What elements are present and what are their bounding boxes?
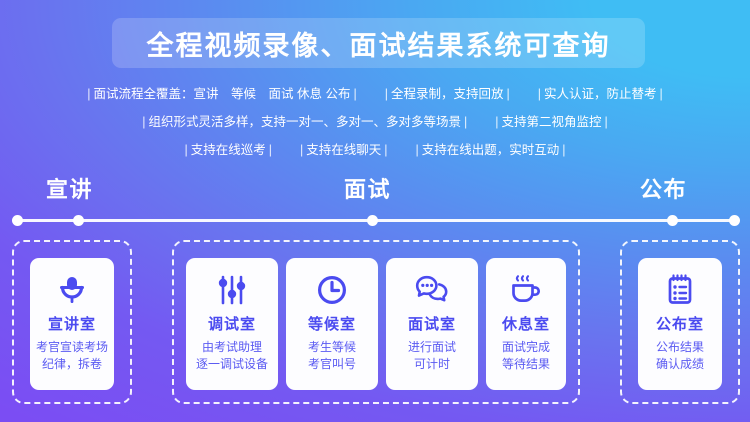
room-card-desc: 面试完成 等待结果 (502, 339, 550, 374)
page-title: 全程视频录像、面试结果系统可查询 (147, 24, 611, 63)
pipe-divider-icon: | (656, 87, 665, 101)
microphone-icon (55, 270, 89, 310)
stage-title-xuanjiang: 宣讲 (46, 172, 93, 204)
room-card-desc: 由考试助理 逐一调试设备 (196, 339, 268, 374)
pipe-divider-icon: | (84, 87, 93, 101)
room-card-title: 宣讲室 (48, 313, 96, 334)
feature-item: |实人认证，防止替考| (535, 80, 666, 105)
room-card-gongbushi[interactable]: 公布室 公布结果 确认成绩 (638, 258, 722, 390)
pipe-divider-icon: | (382, 87, 391, 101)
room-card-desc: 考生等候 考官叫号 (308, 339, 356, 374)
chat-bubbles-icon (414, 270, 450, 310)
timeline-dot (12, 215, 23, 226)
feature-item: |全程录制，支持回放| (382, 80, 513, 105)
stage-title-mianshi: 面试 (344, 172, 391, 204)
feature-label: 支持在线出题，实时互动 (422, 143, 560, 157)
feature-list: |面试流程全覆盖：宣讲 等候 面试 休息 公布| |全程录制，支持回放| |实人… (0, 80, 750, 161)
coffee-cup-icon (508, 270, 544, 310)
room-card-title: 休息室 (502, 313, 550, 334)
room-card-title: 公布室 (656, 313, 704, 334)
feature-item: |支持在线巡考| (181, 136, 275, 161)
pipe-divider-icon: | (535, 87, 544, 101)
room-card-title: 调试室 (208, 313, 256, 334)
room-card-desc: 公布结果 确认成绩 (656, 339, 704, 374)
timeline (12, 215, 740, 225)
pipe-divider-icon: | (381, 143, 390, 157)
timeline-dot (667, 215, 678, 226)
feature-label: 实人认证，防止替考 (544, 87, 657, 101)
pipe-divider-icon: | (503, 87, 512, 101)
feature-row: |支持在线巡考| |支持在线聊天| |支持在线出题，实时互动| (170, 136, 579, 161)
pipe-divider-icon: | (297, 143, 306, 157)
room-card-title: 等候室 (308, 313, 356, 334)
feature-item: |支持在线出题，实时互动| (413, 136, 569, 161)
room-card-mianshishi[interactable]: 面试室 进行面试 可计时 (386, 258, 478, 390)
pipe-divider-icon: | (602, 115, 611, 129)
timeline-dot (729, 215, 740, 226)
room-card-xiuxishi[interactable]: 休息室 面试完成 等待结果 (486, 258, 566, 390)
room-card-xuanjiangshi[interactable]: 宣讲室 考官宣读考场 纪律，拆卷 (30, 258, 114, 390)
pipe-divider-icon: | (181, 143, 190, 157)
clipboard-checklist-icon (663, 270, 697, 310)
feature-item: |支持在线聊天| (297, 136, 391, 161)
feature-label: 支持在线聊天 (306, 143, 381, 157)
feature-label: 支持在线巡考 (191, 143, 266, 157)
room-card-tiaoshishi[interactable]: 调试室 由考试助理 逐一调试设备 (186, 258, 278, 390)
stage-title-gongbu: 公布 (640, 172, 687, 204)
feature-label: 面试流程全覆盖：宣讲 等候 面试 休息 公布 (94, 87, 351, 101)
pipe-divider-icon: | (461, 115, 470, 129)
feature-label: 组织形式灵活多样，支持一对一、多对一、多对多等场景 (148, 115, 461, 129)
room-card-desc: 进行面试 可计时 (408, 339, 456, 374)
room-card-desc: 考官宣读考场 纪律，拆卷 (36, 339, 108, 374)
feature-label: 支持第二视角监控 (502, 115, 602, 129)
room-card-title: 面试室 (408, 313, 456, 334)
feature-item: |组织形式灵活多样，支持一对一、多对一、多对多等场景| (139, 108, 470, 133)
timeline-dot (367, 215, 378, 226)
feature-label: 全程录制，支持回放 (391, 87, 504, 101)
feature-row: |组织形式灵活多样，支持一对一、多对一、多对多等场景| |支持第二视角监控| (128, 108, 622, 133)
room-card-denghoushi[interactable]: 等候室 考生等候 考官叫号 (286, 258, 378, 390)
feature-item: |面试流程全覆盖：宣讲 等候 面试 休息 公布| (84, 80, 359, 105)
pipe-divider-icon: | (413, 143, 422, 157)
pipe-divider-icon: | (139, 115, 148, 129)
clock-icon (315, 270, 349, 310)
pipe-divider-icon: | (266, 143, 275, 157)
page-title-banner: 全程视频录像、面试结果系统可查询 (112, 18, 645, 68)
timeline-dot (73, 215, 84, 226)
pipe-divider-icon: | (492, 115, 501, 129)
sliders-icon (215, 270, 249, 310)
pipe-divider-icon: | (350, 87, 359, 101)
feature-row: |面试流程全覆盖：宣讲 等候 面试 休息 公布| |全程录制，支持回放| |实人… (73, 80, 676, 105)
feature-item: |支持第二视角监控| (492, 108, 611, 133)
pipe-divider-icon: | (559, 143, 568, 157)
